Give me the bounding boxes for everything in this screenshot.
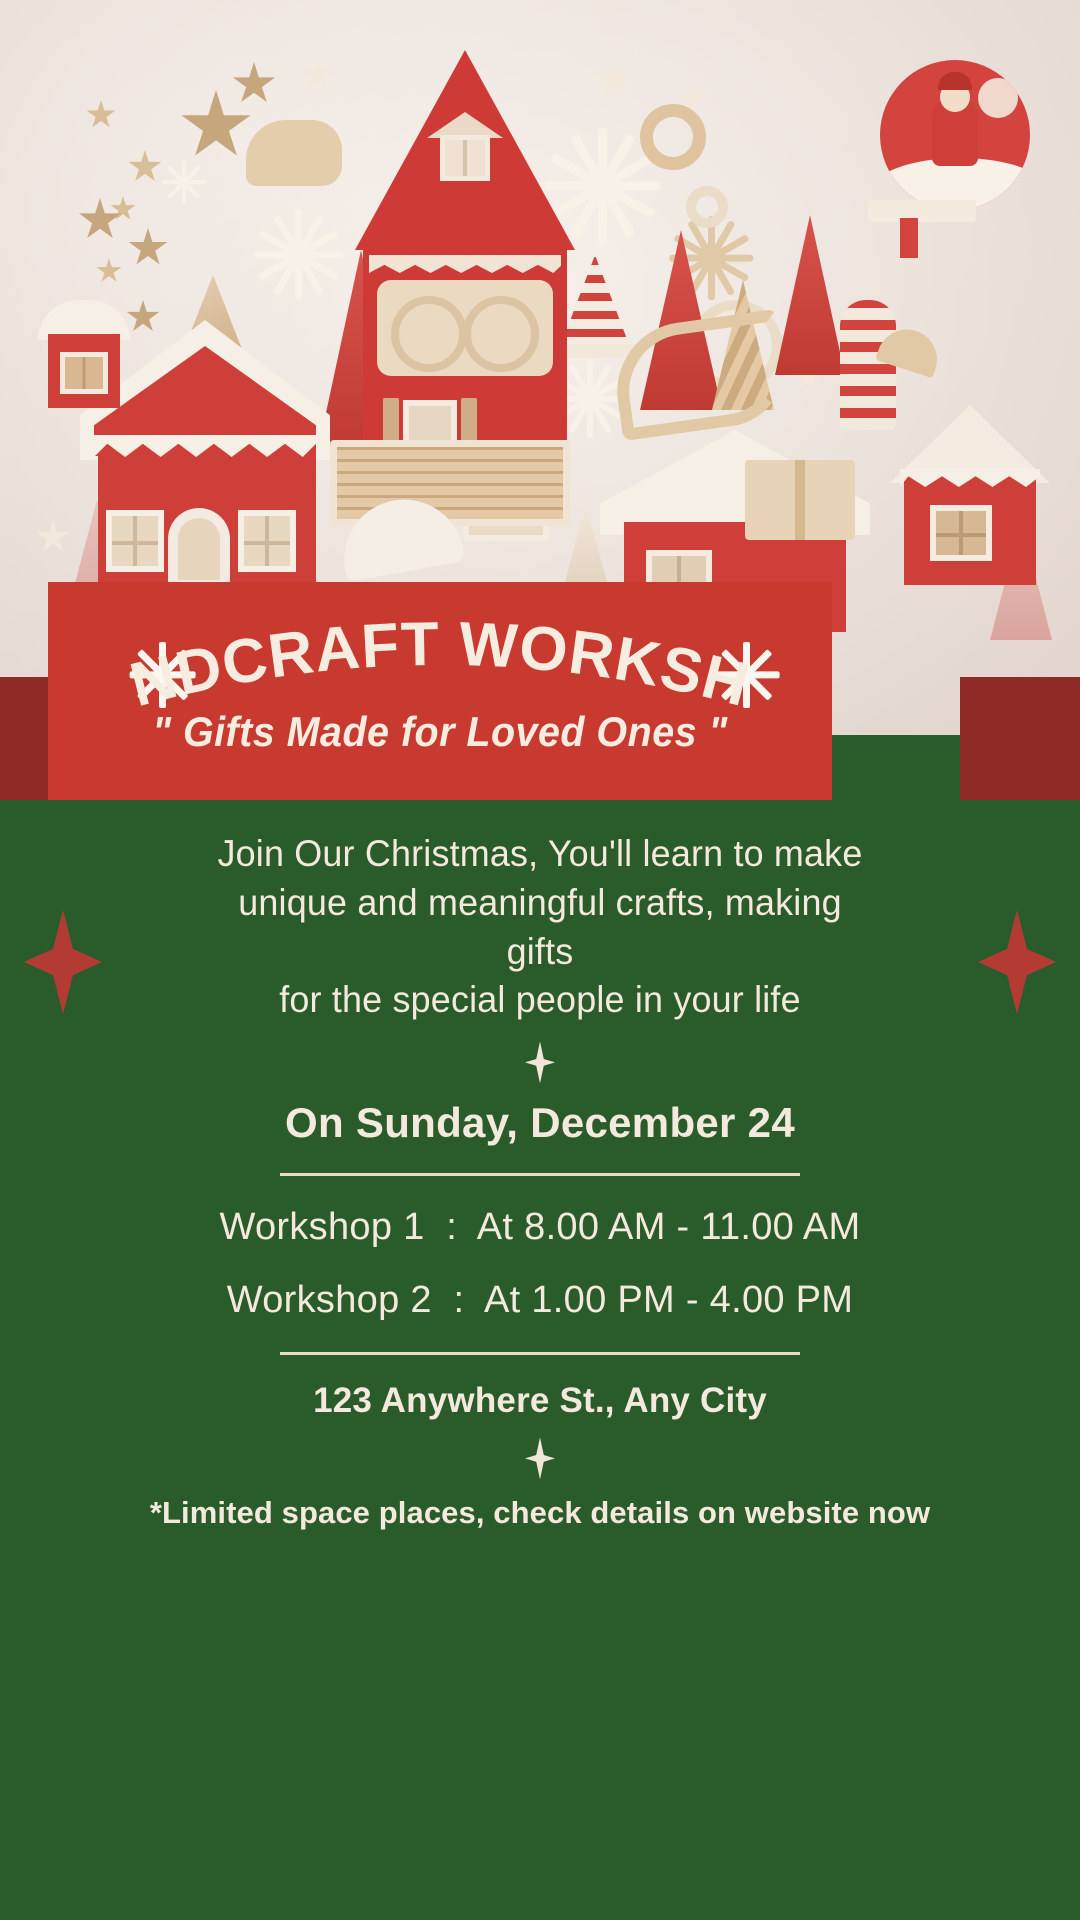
paper-wreath-icon xyxy=(686,186,728,228)
details-content: Join Our Christmas, You'll learn to make… xyxy=(0,830,1080,1531)
divider-line-bottom xyxy=(280,1352,800,1355)
divider-line-top xyxy=(280,1173,800,1176)
intro-line-2: unique and meaningful crafts, making gif… xyxy=(201,879,880,977)
paper-snowflake-icon xyxy=(160,160,204,204)
candy-cane-cylinder xyxy=(840,300,896,430)
event-address: 123 Anywhere St., Any City xyxy=(0,1381,1080,1421)
workshop-1-separator: : xyxy=(446,1206,457,1248)
wooden-wreath-icon xyxy=(640,104,706,170)
page-title: HANDCRAFT WORKSHOP xyxy=(48,610,832,710)
sparkle-divider-icon xyxy=(525,1041,555,1083)
sparkle-divider-icon-2 xyxy=(525,1437,555,1479)
schedule-row-2: Workshop 2 : At 1.00 PM - 4.00 PM xyxy=(0,1279,1080,1322)
details-panel: Join Our Christmas, You'll learn to make… xyxy=(0,800,1080,1920)
schedule-row-1: Workshop 1 : At 8.00 AM - 11.00 AM xyxy=(0,1206,1080,1249)
intro-line-3: for the special people in your life xyxy=(201,976,880,1025)
workshop-2-time: At 1.00 PM - 4.00 PM xyxy=(484,1279,853,1321)
workshop-1-label: Workshop 1 xyxy=(220,1206,425,1248)
intro-line-1: Join Our Christmas, You'll learn to make xyxy=(201,830,880,879)
small-red-house-far-right xyxy=(890,405,1050,585)
tiny-lantern-house xyxy=(38,300,130,410)
shelf-leg-shape xyxy=(900,218,918,258)
wooden-gift-box xyxy=(745,460,855,540)
workshop-2-label: Workshop 2 xyxy=(227,1279,432,1321)
poster-subtitle: " Gifts Made for Loved Ones " xyxy=(72,708,809,756)
workshop-1-time: At 8.00 AM - 11.00 AM xyxy=(477,1206,861,1248)
event-date: On Sunday, December 24 xyxy=(0,1099,1080,1147)
wooden-reindeer-cutout xyxy=(246,120,342,186)
intro-paragraph: Join Our Christmas, You'll learn to make… xyxy=(201,830,880,1025)
santa-figure-ornament xyxy=(880,60,1030,210)
ribbon-face: HANDCRAFT WORKSHOP " Gifts Made for Love… xyxy=(48,582,832,804)
paper-snowflake-icon xyxy=(250,210,340,300)
limited-space-note: *Limited space places, check details on … xyxy=(0,1495,1080,1531)
poster-root: HANDCRAFT WORKSHOP " Gifts Made for Love… xyxy=(0,0,1080,1920)
shelf-shape xyxy=(868,200,976,222)
workshop-2-separator: : xyxy=(454,1279,465,1321)
